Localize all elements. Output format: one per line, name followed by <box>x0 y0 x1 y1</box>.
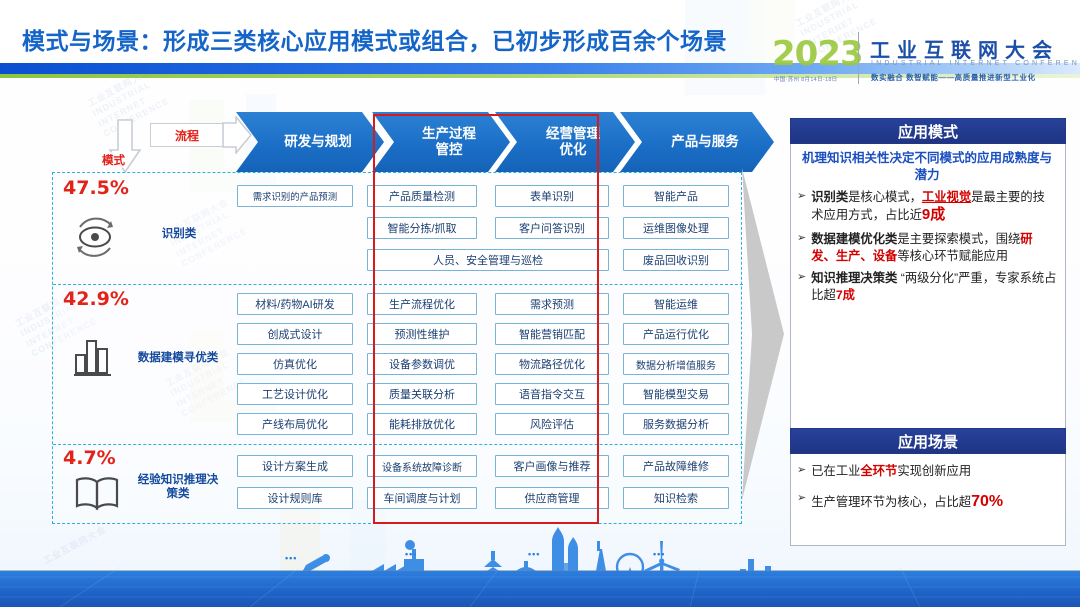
bullet-marker-icon: ➢ <box>797 189 806 204</box>
bullet-item: ➢ 知识推理决策类 “两级分化”严重，专家系统占比超7成 <box>797 270 1057 303</box>
capability-card[interactable]: 车间调度与计划 <box>367 487 477 509</box>
logo-subtitle: 数实融合 数智赋能——高质量推进新型工业化 <box>871 72 1036 83</box>
bullet-seg: 识别类 <box>811 190 848 204</box>
flow-step-label: 经营管理 优化 <box>546 126 600 158</box>
flow-step-3[interactable]: 经营管理 优化 <box>495 112 635 172</box>
capability-card[interactable]: 表单识别 <box>495 185 609 207</box>
bullet-text: 识别类是核心模式，工业视觉是最主要的技术应用方式，占比近9成 <box>811 189 1057 226</box>
conference-logo: 2023 中国·苏州 8月14日-18日 工业互联网大会 INDUSTRIAL … <box>772 28 1072 90</box>
bullet-marker-icon: ➢ <box>797 463 806 478</box>
bullet-marker-icon: ➢ <box>797 231 806 246</box>
bullet-text: 生产管理环节为核心，占比超70% <box>811 491 1057 512</box>
bullet-seg: 知识推理决策类 <box>811 271 897 285</box>
panel-title: 应用模式 <box>790 118 1066 144</box>
category-name: 经验知识推理决 策类 <box>123 473 233 502</box>
capability-card[interactable]: 智能分拣/抓取 <box>367 217 477 239</box>
capability-card[interactable]: 创成式设计 <box>237 323 353 345</box>
logo-year: 2023 <box>772 34 863 74</box>
matrix-band-recognition: 47.5% 识别类 需求识别的产品预测 产品质量检测 智能分拣/抓取 人员、安全… <box>53 173 743 285</box>
capability-card[interactable]: 设备参数调优 <box>367 353 477 375</box>
panel-title: 应用场景 <box>790 428 1066 454</box>
capability-card[interactable]: 产线布局优化 <box>237 413 353 435</box>
capability-card[interactable]: 风险评估 <box>495 413 609 435</box>
capability-card[interactable]: 需求识别的产品预测 <box>237 185 353 207</box>
bullet-text: 知识推理决策类 “两级分化”严重，专家系统占比超7成 <box>811 270 1057 303</box>
slide-root: 工业互联网大会 INDUSTRIAL INTERNET CONFERENCE 工… <box>0 0 1080 607</box>
bullet-seg: 数据建模优化类 <box>811 232 897 246</box>
category-name: 识别类 <box>131 227 227 241</box>
bullet-item: ➢ 数据建模优化类是主要探索模式，围绕研发、生产、设备等核心环节赋能应用 <box>797 231 1057 264</box>
capability-card[interactable]: 工艺设计优化 <box>237 383 353 405</box>
bullet-item: ➢ 已在工业全环节实现创新应用 <box>797 463 1057 479</box>
capability-card[interactable]: 客户画像与推荐 <box>495 455 609 477</box>
capability-card[interactable]: 产品质量检测 <box>367 185 477 207</box>
flow-step-4[interactable]: 产品与服务 <box>620 112 774 172</box>
capability-card[interactable]: 知识检索 <box>623 487 729 509</box>
matrix-band-modeling: 42.9% 数据建模寻优类 材料/药物AI研发 创成式设计 仿真优化 工艺设计优… <box>53 285 743 445</box>
ground-grid-icon <box>0 567 1080 607</box>
panel-application-modes: 应用模式 机理知识相关性决定不同模式的应用成熟度与潜力 ➢ 识别类是核心模式，工… <box>790 118 1066 434</box>
capability-card[interactable]: 供应商管理 <box>495 487 609 509</box>
capability-card[interactable]: 质量关联分析 <box>367 383 477 405</box>
capability-card[interactable]: 能耗排放优化 <box>367 413 477 435</box>
capability-card[interactable]: 预测性维护 <box>367 323 477 345</box>
logo-date: 中国·苏州 8月14日-18日 <box>774 75 838 83</box>
flow-step-label: 研发与规划 <box>284 134 352 150</box>
bullet-seg-highlight: 7成 <box>836 288 855 302</box>
capability-card[interactable]: 废品回收识别 <box>623 249 729 271</box>
capability-card[interactable]: 生产流程优化 <box>367 293 477 315</box>
capability-card[interactable]: 运维图像处理 <box>623 217 729 239</box>
bullet-seg: 是主要探索模式，围绕 <box>897 232 1020 246</box>
bullet-text: 数据建模优化类是主要探索模式，围绕研发、生产、设备等核心环节赋能应用 <box>811 231 1057 264</box>
matrix-band-reasoning: 4.7% 经验知识推理决 策类 设计方案生成 设计规则库 设备系统故障诊断 车间… <box>53 445 743 525</box>
capability-card[interactable]: 语音指令交互 <box>495 383 609 405</box>
capability-card[interactable]: 仿真优化 <box>237 353 353 375</box>
capability-card[interactable]: 设备系统故障诊断 <box>367 455 477 477</box>
bullet-seg-highlight: 9成 <box>922 206 945 223</box>
logo-divider <box>858 32 859 84</box>
capability-card[interactable]: 产品故障维修 <box>623 455 729 477</box>
category-name: 数据建模寻优类 <box>123 351 233 365</box>
category-percent: 47.5% <box>63 177 129 199</box>
bullet-marker-icon: ➢ <box>797 270 806 285</box>
page-title: 模式与场景：形成三类核心应用模式或组合，已初步形成百余个场景 <box>22 22 727 56</box>
open-book-icon <box>73 475 121 515</box>
capability-card[interactable]: 智能营销匹配 <box>495 323 609 345</box>
bullet-seg: 生产管理环节为核心，占比超 <box>811 495 971 509</box>
capability-card[interactable]: 需求预测 <box>495 293 609 315</box>
capability-card[interactable]: 智能产品 <box>623 185 729 207</box>
category-percent: 4.7% <box>63 447 116 469</box>
capability-card[interactable]: 智能运维 <box>623 293 729 315</box>
capability-card[interactable]: 设计规则库 <box>237 487 353 509</box>
capability-matrix: 47.5% 识别类 需求识别的产品预测 产品质量检测 智能分拣/抓取 人员、安全… <box>52 172 742 524</box>
capability-card[interactable]: 设计方案生成 <box>237 455 353 477</box>
bullet-item: ➢ 生产管理环节为核心，占比超70% <box>797 491 1057 512</box>
panel-body: 机理知识相关性决定不同模式的应用成熟度与潜力 ➢ 识别类是核心模式，工业视觉是最… <box>790 144 1066 434</box>
bullet-item: ➢ 识别类是核心模式，工业视觉是最主要的技术应用方式，占比近9成 <box>797 189 1057 226</box>
transition-arrow-icon <box>740 168 786 500</box>
footer-skyline: ••• ••• ••• ••• <box>0 527 1080 607</box>
bullet-marker-icon: ➢ <box>797 491 806 506</box>
flow-step-label: 生产过程 管控 <box>422 126 476 158</box>
category-percent: 42.9% <box>63 288 129 310</box>
flow-step-1[interactable]: 研发与规划 <box>236 112 384 172</box>
bullet-seg-highlight: 工业视觉 <box>922 190 971 204</box>
capability-card[interactable]: 客户问答识别 <box>495 217 609 239</box>
capability-card[interactable]: 产品运行优化 <box>623 323 729 345</box>
panel-lead-text: 机理知识相关性决定不同模式的应用成熟度与潜力 <box>797 150 1057 184</box>
eye-recognition-icon <box>67 215 123 259</box>
capability-card[interactable]: 服务数据分析 <box>623 413 729 435</box>
capability-card[interactable]: 智能模型交易 <box>623 383 729 405</box>
bar-chart-icon <box>71 333 119 379</box>
flow-step-label: 产品与服务 <box>671 134 739 150</box>
logo-title-en: INDUSTRIAL INTERNET CONFERENCE <box>871 60 1080 67</box>
bullet-seg: 已在工业 <box>811 464 860 478</box>
flow-step-2[interactable]: 生产过程 管控 <box>372 112 510 172</box>
bullet-seg: 是核心模式， <box>848 190 922 204</box>
process-flow-row: 研发与规划 生产过程 管控 经营管理 优化 产品与服务 <box>0 112 780 174</box>
bullet-seg-highlight: 70% <box>971 493 1003 510</box>
capability-card[interactable]: 数据分析增值服务 <box>623 353 729 375</box>
bullet-seg-highlight: 全环节 <box>860 464 897 478</box>
bullet-seg: 等核心环节赋能应用 <box>897 249 1008 263</box>
bullet-text: 已在工业全环节实现创新应用 <box>811 463 1057 479</box>
logo-title-cn: 工业互联网大会 <box>870 34 1059 63</box>
bullet-seg: 实现创新应用 <box>897 464 971 478</box>
capability-card[interactable]: 人员、安全管理与巡检 <box>367 249 609 271</box>
capability-card[interactable]: 物流路径优化 <box>495 353 609 375</box>
capability-card[interactable]: 材料/药物AI研发 <box>237 293 353 315</box>
